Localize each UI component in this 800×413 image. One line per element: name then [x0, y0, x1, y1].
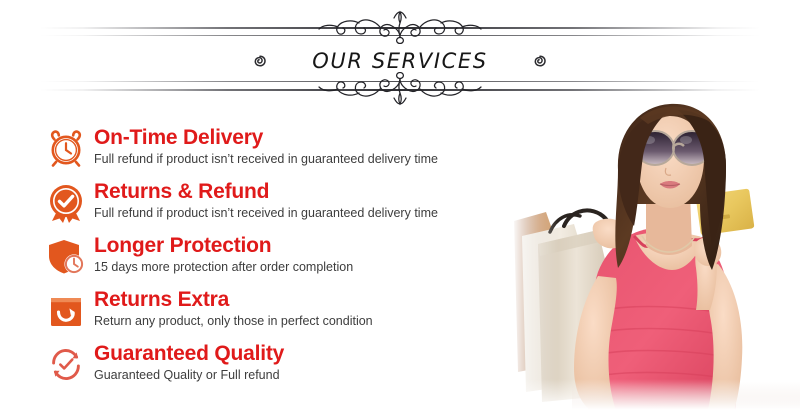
shield-clock-icon: [46, 237, 86, 277]
service-subtitle: Full refund if product isn’t received in…: [94, 205, 514, 222]
service-item-on-time-delivery: On-Time Delivery Full refund if product …: [46, 126, 516, 180]
spiral-ornament-icon: [532, 53, 548, 69]
service-item-guaranteed-quality: Guaranteed Quality Guaranteed Quality or…: [46, 342, 516, 396]
scrollwork-flourish-icon: [295, 10, 505, 44]
service-text-block: On-Time Delivery Full refund if product …: [94, 126, 514, 168]
ground-shadow: [572, 382, 800, 413]
service-text-block: Guaranteed Quality Guaranteed Quality or…: [94, 342, 514, 384]
service-subtitle: Full refund if product isn’t received in…: [94, 151, 514, 168]
service-title: On-Time Delivery: [94, 126, 514, 150]
service-title: Returns & Refund: [94, 180, 514, 204]
service-item-returns-extra: Returns Extra Return any product, only t…: [46, 288, 516, 342]
page-title: OUR SERVICES: [312, 49, 487, 73]
services-list: On-Time Delivery Full refund if product …: [46, 126, 516, 396]
service-text-block: Returns & Refund Full refund if product …: [94, 180, 514, 222]
service-subtitle: Return any product, only those in perfec…: [94, 313, 514, 330]
service-item-longer-protection: Longer Protection 15 days more protectio…: [46, 234, 516, 288]
service-subtitle: 15 days more protection after order comp…: [94, 259, 514, 276]
spiral-ornament-icon: [252, 53, 268, 69]
alarm-clock-icon: [46, 129, 86, 169]
service-title: Returns Extra: [94, 288, 514, 312]
service-item-returns-refund: Returns & Refund Full refund if product …: [46, 180, 516, 234]
service-text-block: Longer Protection 15 days more protectio…: [94, 234, 514, 276]
header-ornament-top: [0, 10, 800, 46]
scrollwork-flourish-icon: [295, 72, 505, 106]
quality-refresh-check-icon: [46, 345, 86, 385]
photo-illustration: [512, 96, 800, 413]
service-title: Guaranteed Quality: [94, 342, 514, 366]
service-title: Longer Protection: [94, 234, 514, 258]
return-box-icon: [46, 291, 86, 331]
service-text-block: Returns Extra Return any product, only t…: [94, 288, 514, 330]
badge-check-icon: [46, 183, 86, 223]
woman-shopper-photo: [512, 96, 800, 413]
service-subtitle: Guaranteed Quality or Full refund: [94, 367, 514, 384]
